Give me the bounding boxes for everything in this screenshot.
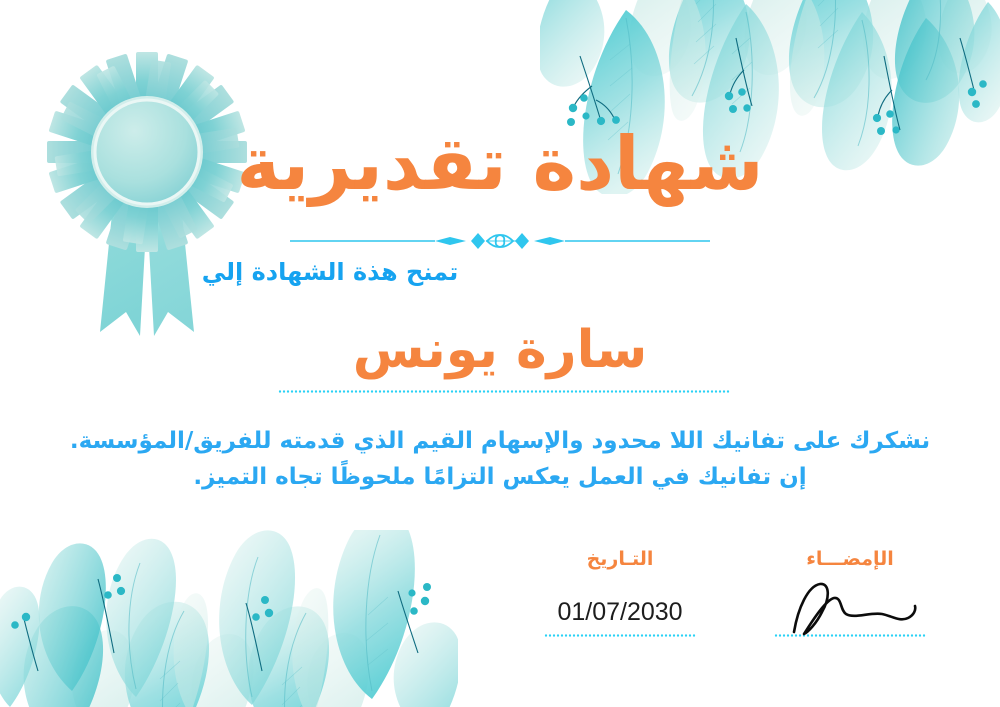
certificate-subtitle-text: تمنح هذة الشهادة إلي [202, 258, 458, 286]
handwritten-signature-icon [774, 574, 926, 638]
signature-value[interactable] [760, 590, 940, 634]
ornamental-divider-icon [290, 228, 710, 254]
certificate-canvas: شهادة تقديرية تمنح هذة الشهادة إلي سارة … [0, 0, 1000, 707]
signature-field: الإمضـــاء [760, 548, 940, 637]
recipient-name-rule [278, 390, 730, 393]
date-value[interactable]: 01/07/2030 [530, 590, 710, 634]
certificate-title: شهادة تقديرية [0, 126, 1000, 204]
signature-label: الإمضـــاء [760, 548, 940, 574]
body-line-1: نشكرك على تفانيك اللا محدود والإسهام الق… [60, 424, 940, 460]
date-label: التـاريخ [530, 548, 710, 574]
date-field: التـاريخ 01/07/2030 [530, 548, 710, 637]
certificate-body: نشكرك على تفانيك اللا محدود والإسهام الق… [60, 424, 940, 495]
certificate-subtitle: تمنح هذة الشهادة إلي [0, 258, 1000, 286]
date-rule [544, 634, 696, 637]
body-line-2: إن تفانيك في العمل يعكس التزامًا ملحوظًا… [60, 460, 940, 496]
recipient-name: سارة يونس [0, 322, 1000, 379]
certificate-content: شهادة تقديرية تمنح هذة الشهادة إلي سارة … [0, 0, 1000, 707]
